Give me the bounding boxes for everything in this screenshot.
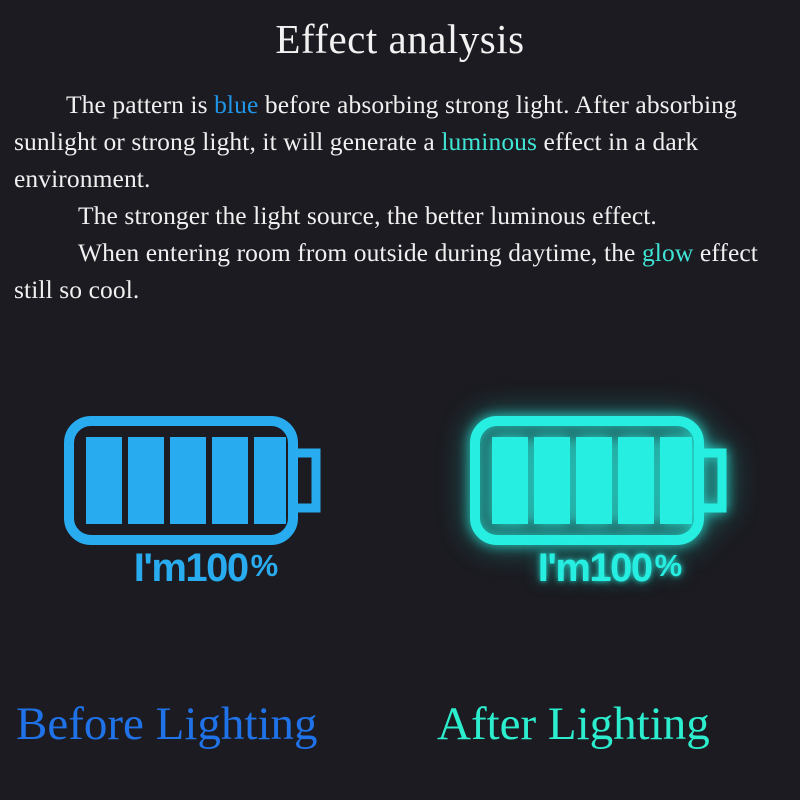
paragraph-2: The stronger the light source, the bette… [14,197,790,234]
battery-before: I'm100% [0,405,400,615]
battery-before-label-text: I'm100 [134,546,248,590]
percent-symbol: % [655,548,683,583]
battery-before-label: I'm100% [0,543,406,591]
battery-full-icon [64,413,324,548]
battery-icon-after-wrap [470,413,730,548]
percent-symbol: % [251,548,279,583]
page-title: Effect analysis [0,14,800,64]
caption-before-lighting: Before Lighting [16,695,318,753]
battery-comparison: I'm100% I'm100% [0,405,800,615]
caption-after-lighting: After Lighting [437,695,710,753]
paragraph-3-text-a: When entering room from outside during d… [78,238,642,267]
paragraph-3: When entering room from outside during d… [14,234,790,308]
description-block: The pattern is blue before absorbing str… [14,86,790,308]
battery-after-label-text: I'm100 [538,546,652,590]
highlight-blue-word: blue [214,90,258,119]
battery-after: I'm100% [400,405,800,615]
caption-row: Before Lighting After Lighting [0,695,800,775]
paragraph-1: The pattern is blue before absorbing str… [14,86,790,197]
highlight-glow-word: glow [642,238,693,267]
battery-full-glow-icon [470,413,730,548]
battery-after-label: I'm100% [400,543,800,591]
highlight-luminous-word: luminous [441,127,537,156]
battery-icon-before-wrap [64,413,324,548]
paragraph-1-text-a: The pattern is [66,90,214,119]
paragraph-2-text: The stronger the light source, the bette… [78,201,657,230]
poster-root: Effect analysis The pattern is blue befo… [0,0,800,800]
